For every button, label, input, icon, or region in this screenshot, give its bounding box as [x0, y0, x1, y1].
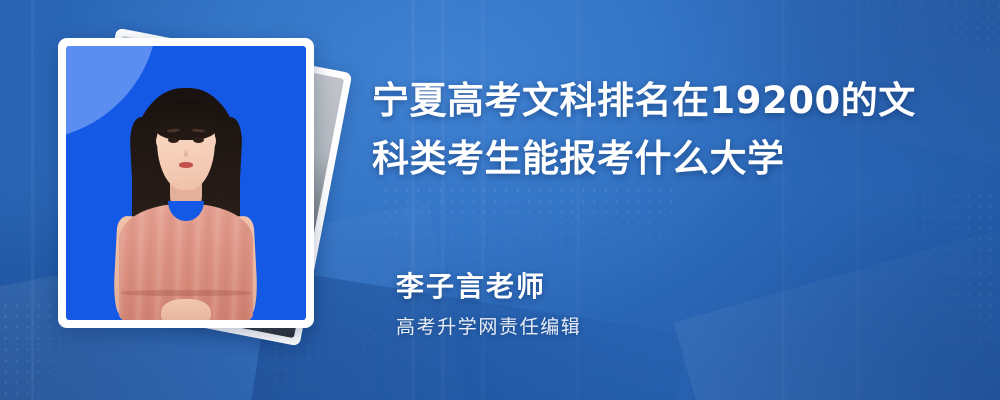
portrait-illustration — [66, 46, 306, 320]
banner-content: 宁夏高考文科排名在19200的文科类考生能报考什么大学 李子言老师 高考升学网责… — [372, 0, 968, 400]
article-headline: 宁夏高考文科排名在19200的文科类考生能报考什么大学 — [372, 72, 944, 188]
author-photo-stack — [52, 28, 352, 368]
author-name: 李子言老师 — [396, 268, 581, 306]
portrait-eye-left — [168, 137, 179, 143]
author-role: 高考升学网责任编辑 — [396, 314, 581, 340]
portrait-nose — [184, 148, 188, 156]
portrait-eye-right — [193, 137, 204, 143]
author-byline: 李子言老师 高考升学网责任编辑 — [396, 268, 581, 340]
portrait-waist-seam — [121, 290, 251, 296]
portrait-hands — [161, 299, 211, 320]
article-cover-banner: 宁夏高考文科排名在19200的文科类考生能报考什么大学 李子言老师 高考升学网责… — [0, 0, 1000, 400]
portrait-mouth — [179, 162, 194, 167]
photo-card-front — [58, 38, 314, 328]
author-portrait-photo — [66, 46, 306, 320]
